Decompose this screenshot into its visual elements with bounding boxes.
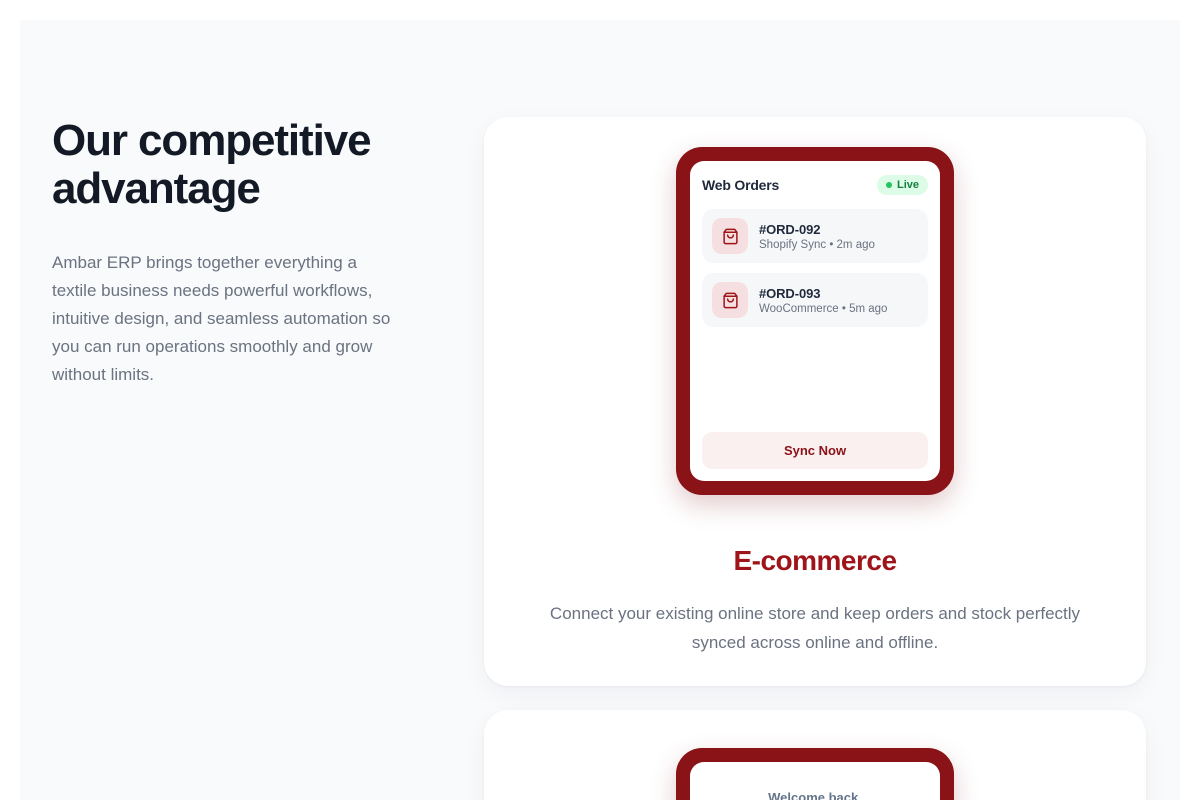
phone-header: Web Orders Live bbox=[702, 175, 928, 195]
feature-title: E-commerce bbox=[484, 545, 1146, 577]
feature-card-ecommerce: Web Orders Live #O bbox=[484, 117, 1146, 686]
phone-screen: Welcome back, bbox=[690, 762, 940, 800]
phone-header-title: Web Orders bbox=[702, 177, 779, 193]
order-id: #ORD-092 bbox=[759, 222, 875, 237]
phone-screen: Web Orders Live #O bbox=[690, 161, 940, 481]
phone-mockup-ecommerce: Web Orders Live #O bbox=[676, 147, 954, 495]
spacer bbox=[702, 337, 928, 432]
order-meta: WooCommerce • 5m ago bbox=[759, 303, 887, 315]
page-title: Our competitive advantage bbox=[52, 117, 382, 213]
order-meta: Shopify Sync • 2m ago bbox=[759, 239, 875, 251]
status-badge-label: Live bbox=[897, 179, 919, 191]
page-subcopy: Ambar ERP brings together everything a t… bbox=[52, 249, 392, 389]
welcome-text: Welcome back, bbox=[702, 790, 928, 800]
list-item[interactable]: #ORD-093 WooCommerce • 5m ago bbox=[702, 273, 928, 327]
intro-column: Our competitive advantage Ambar ERP brin… bbox=[52, 117, 442, 389]
list-item-text: #ORD-092 Shopify Sync • 2m ago bbox=[759, 222, 875, 251]
list-item[interactable]: #ORD-092 Shopify Sync • 2m ago bbox=[702, 209, 928, 263]
phone-mockup-welcome: Welcome back, bbox=[676, 748, 954, 800]
order-id: #ORD-093 bbox=[759, 286, 887, 301]
status-badge: Live bbox=[877, 175, 928, 195]
feature-description: Connect your existing online store and k… bbox=[534, 599, 1096, 657]
shopping-bag-icon bbox=[712, 282, 748, 318]
shopping-bag-icon bbox=[712, 218, 748, 254]
feature-card-welcome: Welcome back, bbox=[484, 710, 1146, 800]
live-dot-icon bbox=[886, 182, 892, 188]
sync-now-button[interactable]: Sync Now bbox=[702, 432, 928, 469]
list-item-text: #ORD-093 WooCommerce • 5m ago bbox=[759, 286, 887, 315]
page-root: Our competitive advantage Ambar ERP brin… bbox=[20, 20, 1180, 800]
